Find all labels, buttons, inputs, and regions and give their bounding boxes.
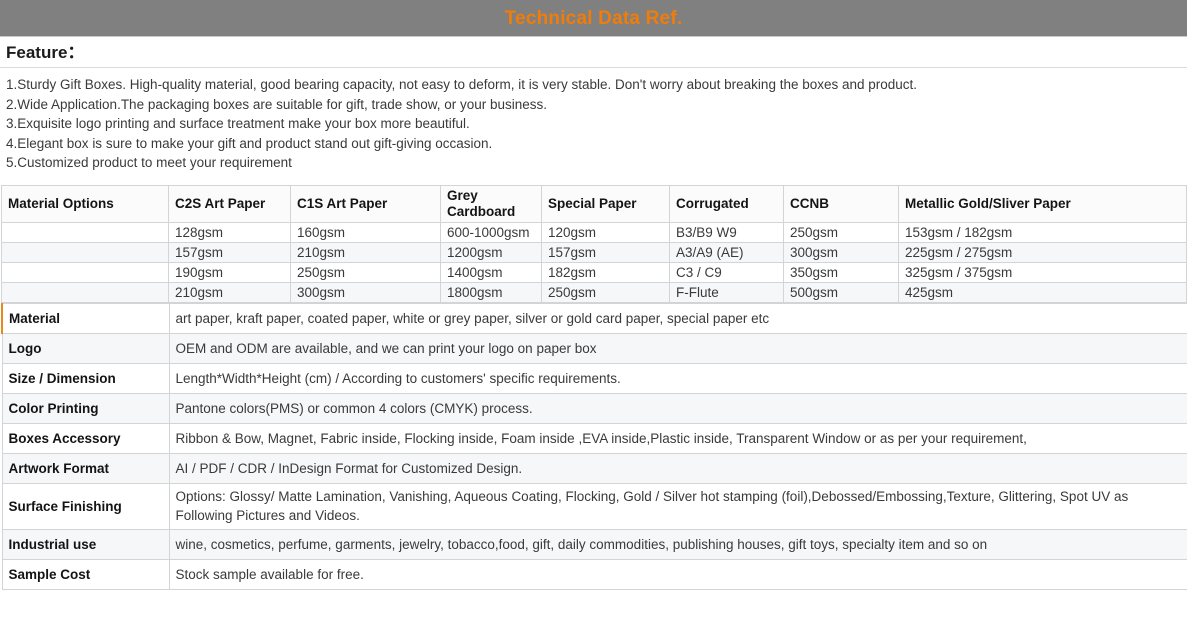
cell [2, 242, 169, 262]
column-header-ccnb: CCNB [784, 185, 899, 222]
feature-item: 1.Sturdy Gift Boxes. High-quality materi… [6, 75, 1181, 95]
table-row: 210gsm 300gsm 1800gsm 250gsm F-Flute 500… [2, 282, 1187, 302]
cell: B3/B9 W9 [670, 222, 784, 242]
spec-value: Length*Width*Height (cm) / According to … [169, 363, 1187, 393]
spec-row-surface-finishing: Surface Finishing Options: Glossy/ Matte… [2, 483, 1187, 529]
spec-row-industrial-use: Industrial use wine, cosmetics, perfume,… [2, 529, 1187, 559]
cell: 250gsm [291, 262, 441, 282]
cell: 225gsm / 275gsm [899, 242, 1187, 262]
cell: 500gsm [784, 282, 899, 302]
page-banner: Technical Data Ref. [0, 0, 1187, 37]
spec-key: Surface Finishing [2, 483, 169, 529]
spec-row-size-dimension: Size / Dimension Length*Width*Height (cm… [2, 363, 1187, 393]
spec-value: Pantone colors(PMS) or common 4 colors (… [169, 393, 1187, 423]
cell: A3/A9 (AE) [670, 242, 784, 262]
cell [2, 222, 169, 242]
feature-list: 1.Sturdy Gift Boxes. High-quality materi… [0, 68, 1187, 179]
specification-table: Material art paper, kraft paper, coated … [1, 303, 1187, 590]
spec-key: Artwork Format [2, 453, 169, 483]
cell: 128gsm [169, 222, 291, 242]
cell: 210gsm [291, 242, 441, 262]
spec-value: AI / PDF / CDR / InDesign Format for Cus… [169, 453, 1187, 483]
feature-item: 2.Wide Application.The packaging boxes a… [6, 95, 1181, 115]
material-options-table: Material Options C2S Art Paper C1S Art P… [1, 185, 1187, 303]
feature-heading-label: Feature： [6, 44, 84, 61]
cell [2, 262, 169, 282]
spec-value: Options: Glossy/ Matte Lamination, Vanis… [169, 483, 1187, 529]
cell: 600-1000gsm [441, 222, 542, 242]
cell: 425gsm [899, 282, 1187, 302]
column-header-grey-cardboard: Grey Cardboard [441, 185, 542, 222]
column-header-c2s-art-paper: C2S Art Paper [169, 185, 291, 222]
cell: 250gsm [784, 222, 899, 242]
spec-key: Sample Cost [2, 559, 169, 589]
column-header-c1s-art-paper: C1S Art Paper [291, 185, 441, 222]
cell: 157gsm [169, 242, 291, 262]
feature-item: 5.Customized product to meet your requir… [6, 153, 1181, 173]
cell: 350gsm [784, 262, 899, 282]
feature-heading-bar: Feature： [0, 37, 1187, 68]
column-header-corrugated: Corrugated [670, 185, 784, 222]
table-header-row: Material Options C2S Art Paper C1S Art P… [2, 185, 1187, 222]
table-row: 157gsm 210gsm 1200gsm 157gsm A3/A9 (AE) … [2, 242, 1187, 262]
cell: 300gsm [784, 242, 899, 262]
cell: 120gsm [542, 222, 670, 242]
spec-value: art paper, kraft paper, coated paper, wh… [169, 303, 1187, 333]
spec-key: Industrial use [2, 529, 169, 559]
spec-value: Stock sample available for free. [169, 559, 1187, 589]
cell: 1200gsm [441, 242, 542, 262]
spec-key: Logo [2, 333, 169, 363]
cell: 300gsm [291, 282, 441, 302]
spec-key: Boxes Accessory [2, 423, 169, 453]
spec-value: OEM and ODM are available, and we can pr… [169, 333, 1187, 363]
technical-data-sheet: Technical Data Ref. Feature： 1.Sturdy Gi… [0, 0, 1187, 620]
column-header-special-paper: Special Paper [542, 185, 670, 222]
cell [2, 282, 169, 302]
spec-row-sample-cost: Sample Cost Stock sample available for f… [2, 559, 1187, 589]
column-header-material-options: Material Options [2, 185, 169, 222]
spec-row-material: Material art paper, kraft paper, coated … [2, 303, 1187, 333]
cell: 210gsm [169, 282, 291, 302]
table-row: 190gsm 250gsm 1400gsm 182gsm C3 / C9 350… [2, 262, 1187, 282]
cell: 182gsm [542, 262, 670, 282]
cell: 325gsm / 375gsm [899, 262, 1187, 282]
cell: 153gsm / 182gsm [899, 222, 1187, 242]
cell: 250gsm [542, 282, 670, 302]
cell: 1800gsm [441, 282, 542, 302]
cell: 190gsm [169, 262, 291, 282]
cell: 157gsm [542, 242, 670, 262]
feature-item: 4.Elegant box is sure to make your gift … [6, 134, 1181, 154]
table-row: 128gsm 160gsm 600-1000gsm 120gsm B3/B9 W… [2, 222, 1187, 242]
cell: C3 / C9 [670, 262, 784, 282]
spec-row-logo: Logo OEM and ODM are available, and we c… [2, 333, 1187, 363]
spec-key: Color Printing [2, 393, 169, 423]
cell: 160gsm [291, 222, 441, 242]
spec-row-artwork-format: Artwork Format AI / PDF / CDR / InDesign… [2, 453, 1187, 483]
spec-key: Material [2, 303, 169, 333]
page-title: Technical Data Ref. [505, 9, 683, 28]
spec-value: wine, cosmetics, perfume, garments, jewe… [169, 529, 1187, 559]
spec-row-boxes-accessory: Boxes Accessory Ribbon & Bow, Magnet, Fa… [2, 423, 1187, 453]
column-header-metallic-paper: Metallic Gold/Sliver Paper [899, 185, 1187, 222]
spec-value: Ribbon & Bow, Magnet, Fabric inside, Flo… [169, 423, 1187, 453]
cell: F-Flute [670, 282, 784, 302]
cell: 1400gsm [441, 262, 542, 282]
spec-key: Size / Dimension [2, 363, 169, 393]
feature-item: 3.Exquisite logo printing and surface tr… [6, 114, 1181, 134]
spec-row-color-printing: Color Printing Pantone colors(PMS) or co… [2, 393, 1187, 423]
